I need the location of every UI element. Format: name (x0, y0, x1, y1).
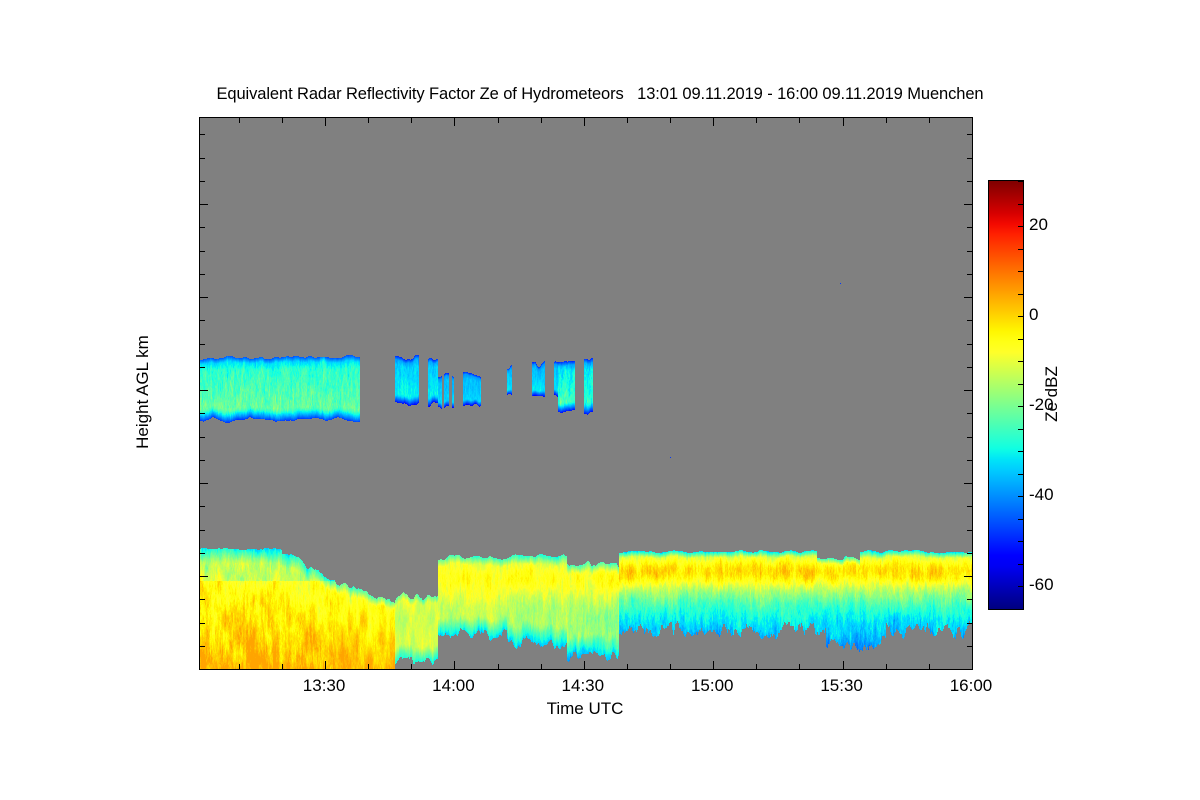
colorbar-tick-mark (1018, 541, 1023, 542)
tick-mark (200, 553, 205, 554)
tick-mark (929, 118, 930, 123)
tick-mark (454, 661, 455, 669)
colorbar-tick-mark (1018, 204, 1023, 205)
colorbar-tick-mark (1018, 294, 1023, 295)
tick-mark (239, 664, 240, 669)
tick-mark (498, 118, 499, 123)
tick-mark (200, 320, 205, 321)
tick-mark (200, 204, 208, 205)
x-tick-label: 13:30 (264, 676, 384, 696)
tick-mark (200, 134, 205, 135)
colorbar-tick-mark (1018, 361, 1023, 362)
tick-mark (967, 623, 972, 624)
tick-mark (200, 274, 205, 275)
tick-mark (843, 118, 844, 126)
tick-mark (368, 664, 369, 669)
tick-mark (200, 483, 208, 484)
colorbar-tick-mark (1018, 429, 1023, 430)
tick-mark (967, 344, 972, 345)
tick-mark (200, 390, 208, 391)
tick-mark (200, 599, 205, 600)
tick-mark (972, 661, 973, 669)
colorbar-tick-mark (1018, 451, 1023, 452)
tick-mark (843, 661, 844, 669)
tick-mark (967, 413, 972, 414)
tick-mark (670, 118, 671, 123)
colorbar-tick-mark (1018, 181, 1023, 182)
x-tick-label: 14:30 (523, 676, 643, 696)
colorbar-gradient (989, 181, 1023, 609)
colorbar-tick-label: -40 (1029, 485, 1054, 505)
tick-mark (627, 664, 628, 669)
tick-mark (967, 669, 972, 670)
tick-mark (967, 181, 972, 182)
tick-mark (967, 437, 972, 438)
colorbar-tick-mark (1018, 406, 1023, 407)
tick-mark (200, 158, 205, 159)
tick-mark (799, 118, 800, 123)
tick-mark (454, 118, 455, 126)
tick-mark (967, 320, 972, 321)
tick-mark (498, 664, 499, 669)
tick-mark (200, 576, 208, 577)
colorbar-tick-label: 20 (1029, 215, 1048, 235)
tick-mark (541, 664, 542, 669)
tick-mark (368, 118, 369, 123)
tick-mark (972, 118, 973, 126)
colorbar-tick-mark (1018, 316, 1023, 317)
y-axis-title: Height AGL km (133, 335, 153, 449)
tick-mark (200, 251, 205, 252)
tick-mark (200, 297, 208, 298)
tick-mark (200, 413, 205, 414)
tick-mark (967, 553, 972, 554)
tick-mark (200, 344, 205, 345)
tick-mark (967, 251, 972, 252)
tick-mark (200, 506, 205, 507)
tick-mark (325, 118, 326, 126)
tick-mark (200, 181, 205, 182)
tick-mark (200, 623, 205, 624)
colorbar (988, 180, 1024, 610)
tick-mark (627, 118, 628, 123)
tick-mark (929, 664, 930, 669)
tick-mark (584, 118, 585, 126)
tick-mark (886, 118, 887, 123)
tick-mark (411, 118, 412, 123)
plot-area (199, 117, 973, 670)
tick-mark (200, 646, 205, 647)
colorbar-tick-mark (1018, 609, 1023, 610)
x-axis-title: Time UTC (547, 699, 624, 719)
tick-mark (670, 664, 671, 669)
x-tick-label: 15:30 (782, 676, 902, 696)
x-tick-label: 15:00 (652, 676, 772, 696)
colorbar-tick-mark (1018, 384, 1023, 385)
tick-mark (967, 460, 972, 461)
colorbar-tick-mark (1018, 249, 1023, 250)
tick-mark (200, 669, 205, 670)
tick-mark (964, 204, 972, 205)
tick-mark (282, 664, 283, 669)
tick-mark (967, 599, 972, 600)
tick-mark (967, 227, 972, 228)
tick-mark (967, 158, 972, 159)
tick-mark (200, 460, 205, 461)
tick-mark (584, 661, 585, 669)
tick-mark (713, 118, 714, 126)
tick-mark (200, 530, 205, 531)
x-tick-label: 16:00 (911, 676, 1031, 696)
tick-mark (200, 437, 205, 438)
colorbar-tick-mark (1018, 564, 1023, 565)
tick-mark (541, 118, 542, 123)
tick-mark (239, 118, 240, 123)
tick-mark (967, 134, 972, 135)
chart-title: Equivalent Radar Reflectivity Factor Ze … (0, 85, 1200, 104)
tick-mark (325, 661, 326, 669)
tick-mark (799, 664, 800, 669)
tick-mark (964, 576, 972, 577)
reflectivity-heatmap (200, 118, 972, 669)
tick-mark (967, 530, 972, 531)
radar-reflectivity-figure: Equivalent Radar Reflectivity Factor Ze … (0, 0, 1200, 800)
colorbar-tick-mark (1018, 586, 1023, 587)
tick-mark (200, 227, 205, 228)
colorbar-title: Ze dBZ (1042, 366, 1062, 422)
tick-mark (964, 390, 972, 391)
colorbar-tick-mark (1018, 474, 1023, 475)
colorbar-tick-label: 0 (1029, 305, 1038, 325)
colorbar-tick-mark (1018, 519, 1023, 520)
tick-mark (200, 367, 205, 368)
x-tick-label: 14:00 (393, 676, 513, 696)
tick-mark (964, 297, 972, 298)
tick-mark (756, 118, 757, 123)
tick-mark (967, 506, 972, 507)
tick-mark (967, 274, 972, 275)
tick-mark (411, 664, 412, 669)
colorbar-tick-mark (1018, 226, 1023, 227)
tick-mark (886, 664, 887, 669)
colorbar-tick-mark (1018, 339, 1023, 340)
tick-mark (967, 367, 972, 368)
colorbar-tick-label: -60 (1029, 575, 1054, 595)
colorbar-tick-mark (1018, 496, 1023, 497)
tick-mark (756, 664, 757, 669)
tick-mark (713, 661, 714, 669)
colorbar-tick-mark (1018, 271, 1023, 272)
tick-mark (282, 118, 283, 123)
tick-mark (967, 646, 972, 647)
tick-mark (964, 483, 972, 484)
